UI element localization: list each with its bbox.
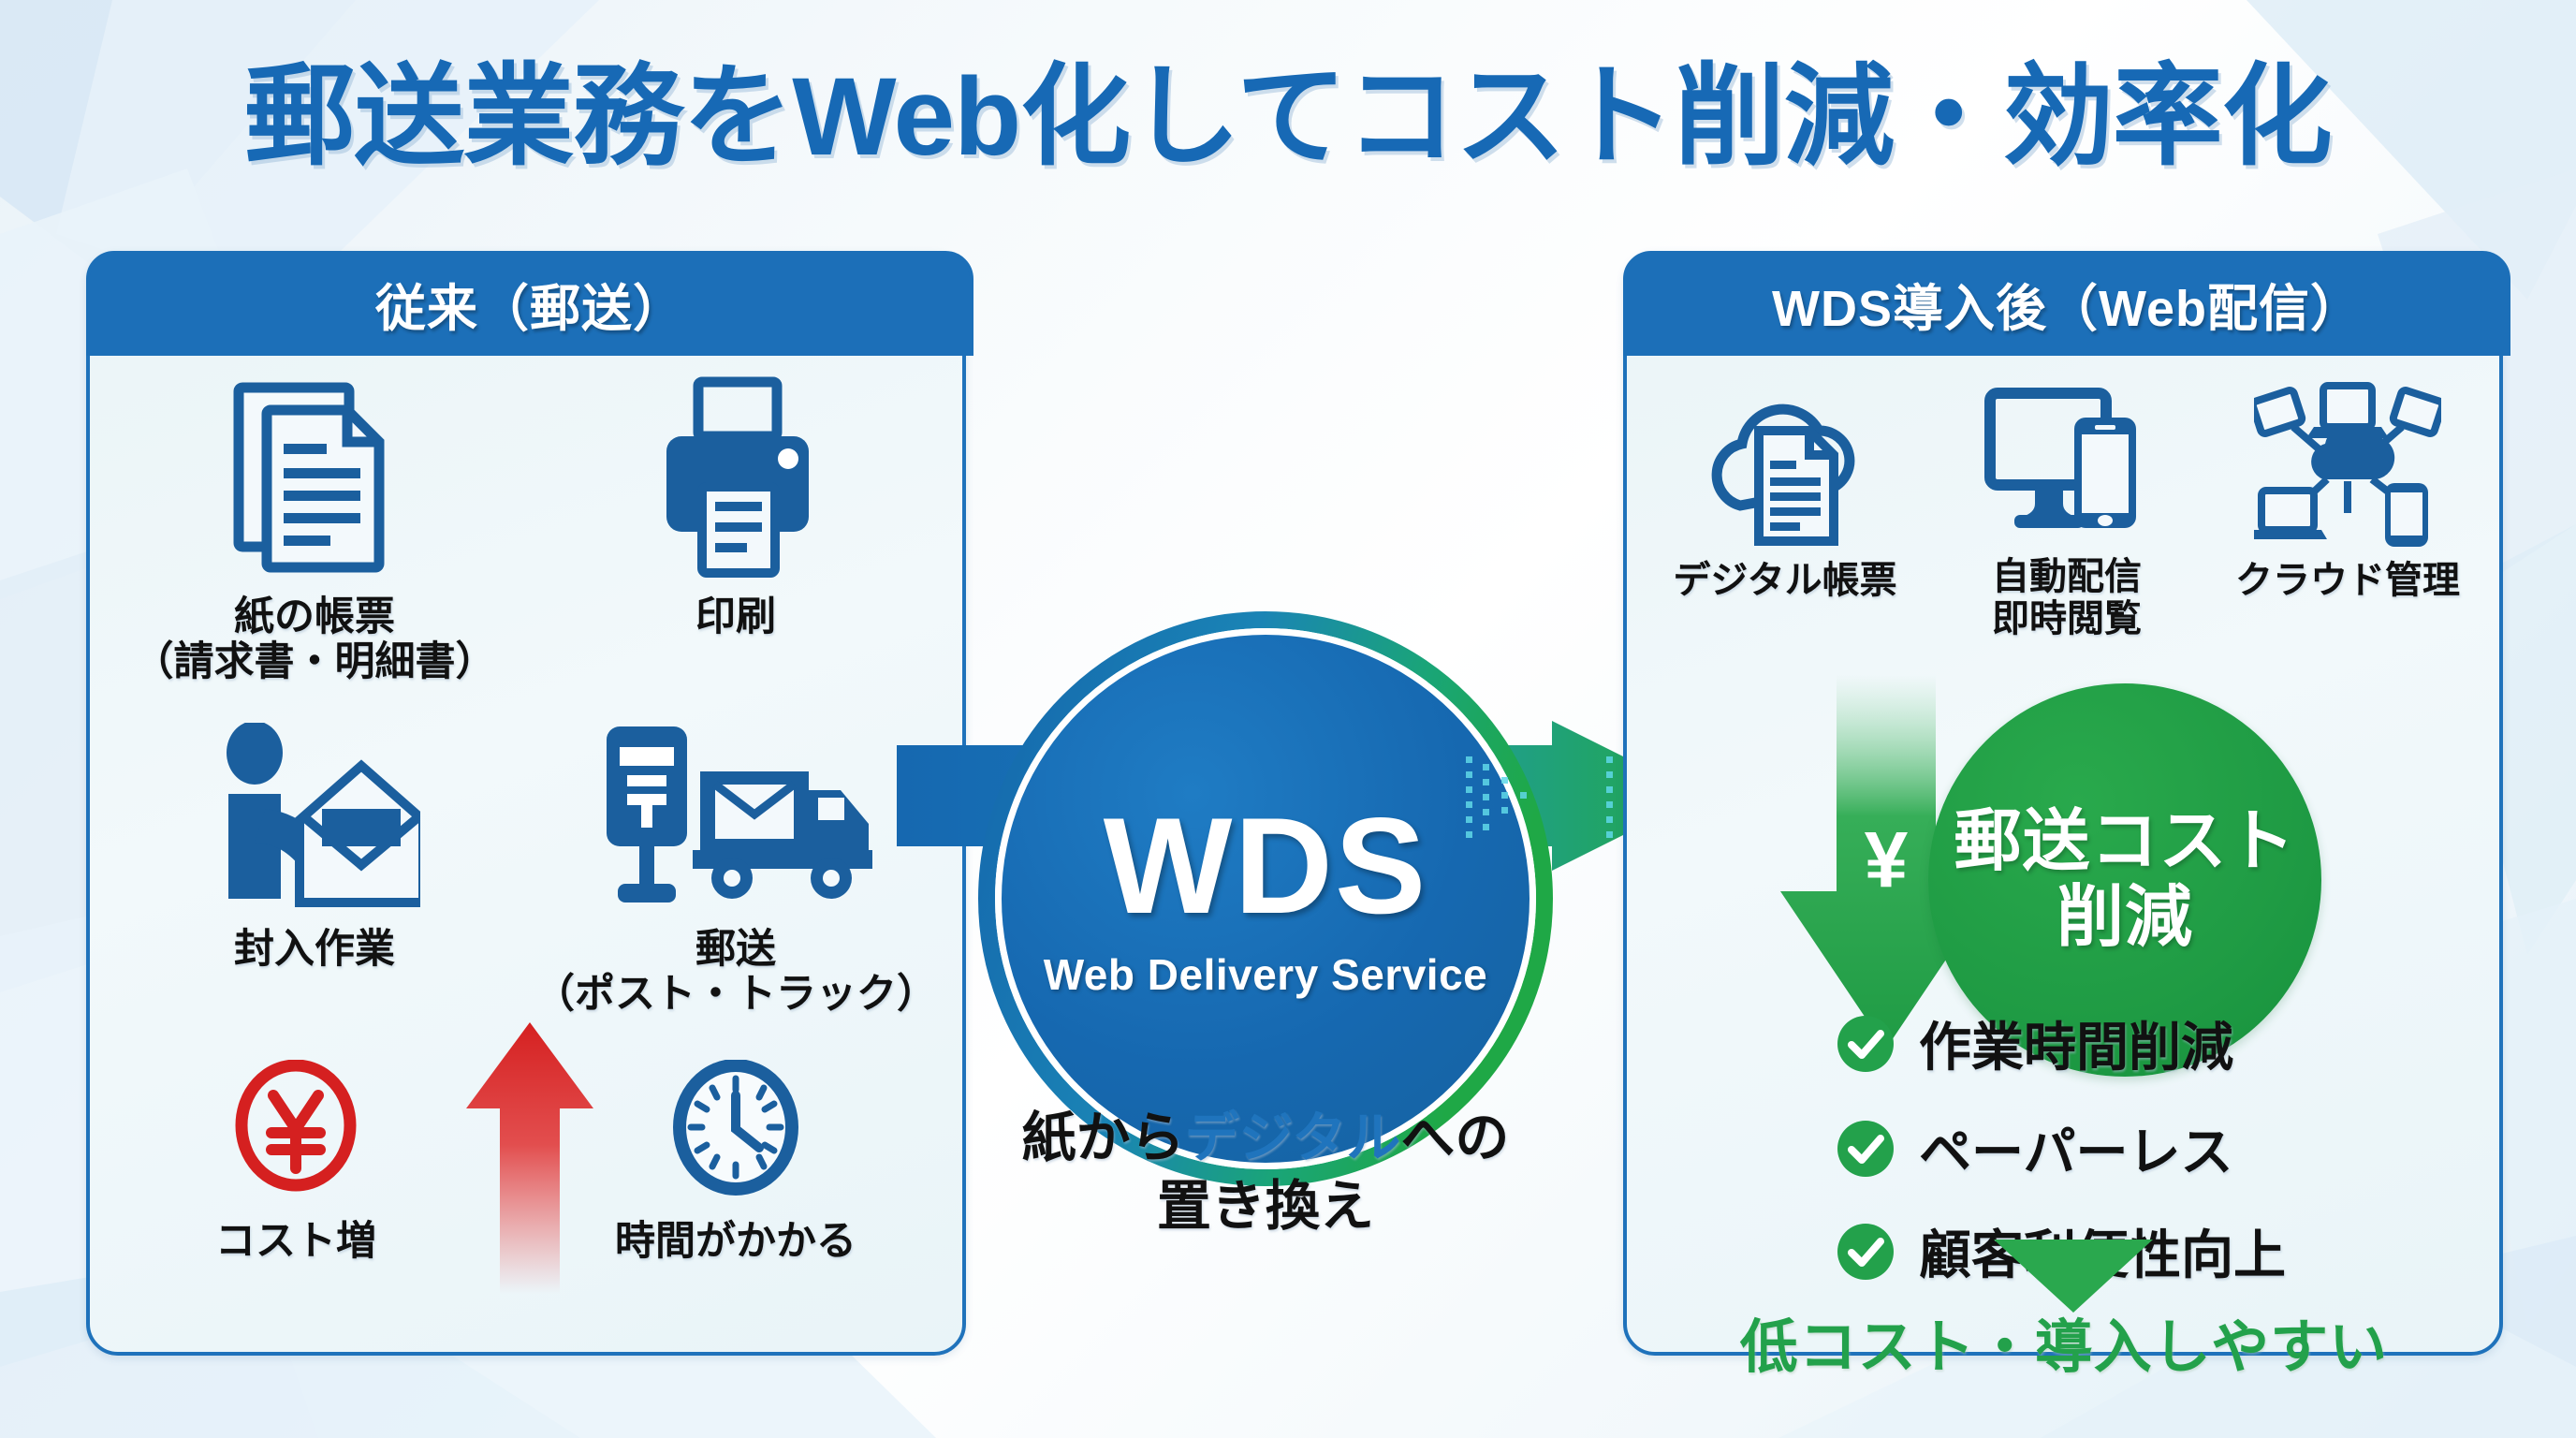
printer-icon	[650, 376, 823, 578]
caption-part1: 紙から	[1022, 1108, 1185, 1168]
monitor-smartphone-icon	[1973, 382, 2160, 550]
caption-line2: 置き換え	[1157, 1176, 1374, 1237]
yen-symbol: ¥	[1830, 814, 1942, 905]
benefit-row: ペーパーレス	[1837, 1110, 2232, 1186]
caption-part2: への	[1400, 1108, 1509, 1168]
item-sublabel: 即時閲覧	[1926, 598, 2207, 640]
check-circle-icon	[1837, 1120, 1895, 1178]
item-label: 時間がかかる	[539, 1219, 932, 1264]
cost-badge-line1: 郵送コスト	[1954, 804, 2295, 880]
clock-icon	[666, 1060, 806, 1200]
wds-logo-sub-text: Web Delivery Service	[1044, 949, 1488, 1000]
check-circle-icon	[1837, 1223, 1895, 1281]
item-paper-documents: 紙の帳票 （請求書・明細書）	[127, 376, 502, 684]
caption-highlight: デジタル	[1185, 1108, 1401, 1168]
panel-footer-text: 低コスト・導入しやすい	[1647, 1299, 2481, 1384]
check-circle-icon	[1837, 1015, 1895, 1073]
item-time-consuming: 時間がかかる	[539, 1060, 932, 1264]
benefit-label: 作業時間削減	[1919, 1005, 2233, 1081]
item-auto-delivery: 自動配信 即時閲覧	[1926, 382, 2207, 640]
cost-badge-line2: 削減	[2056, 880, 2193, 956]
item-sublabel: （請求書・明細書）	[127, 639, 502, 684]
person-enveloping-icon	[210, 723, 420, 910]
item-digital-forms: デジタル帳票	[1640, 382, 1930, 602]
postbox-truck-icon	[595, 723, 876, 910]
item-label: クラウド管理	[2198, 560, 2497, 602]
item-label: コスト増	[127, 1219, 464, 1264]
item-enveloping: 封入作業	[127, 723, 502, 972]
item-label: デジタル帳票	[1640, 560, 1930, 602]
benefit-label: ペーパーレス	[1919, 1110, 2232, 1186]
infographic-canvas: 郵送業務をWeb化してコスト削減・効率化 従来（郵送） 紙の帳票	[0, 0, 2576, 1438]
item-sublabel: （ポスト・トラック）	[530, 972, 942, 1017]
item-label: 印刷	[549, 594, 923, 639]
item-cloud-management: クラウド管理	[2198, 382, 2497, 602]
cloud-document-icon	[1699, 382, 1872, 550]
panel-traditional-header: 従来（郵送）	[86, 251, 973, 356]
paper-documents-icon	[226, 376, 403, 578]
panel-wds-header: WDS導入後（Web配信）	[1623, 251, 2510, 356]
benefit-row: 作業時間削減	[1837, 1005, 2233, 1081]
item-label: 紙の帳票	[127, 594, 502, 639]
item-mailing: 郵送 （ポスト・トラック）	[530, 723, 942, 1017]
item-printing: 印刷	[549, 376, 923, 639]
item-label: 封入作業	[127, 927, 502, 972]
center-caption: 紙からデジタルへの 置き換え	[957, 1105, 1574, 1240]
item-label: 自動配信	[1926, 556, 2207, 598]
yen-circle-red-icon	[230, 1060, 361, 1200]
wds-logo-disc: WDS Web Delivery Service	[1002, 635, 1529, 1163]
item-cost-increase: コスト増	[127, 1060, 464, 1264]
page-title: 郵送業務をWeb化してコスト削減・効率化	[0, 26, 2576, 186]
panel-traditional: 従来（郵送） 紙の帳票 （請求書・明細書）	[86, 251, 966, 1356]
item-label: 郵送	[530, 927, 942, 972]
wds-logo-main-text: WDS	[1104, 798, 1428, 934]
cloud-network-icon	[2254, 382, 2441, 550]
